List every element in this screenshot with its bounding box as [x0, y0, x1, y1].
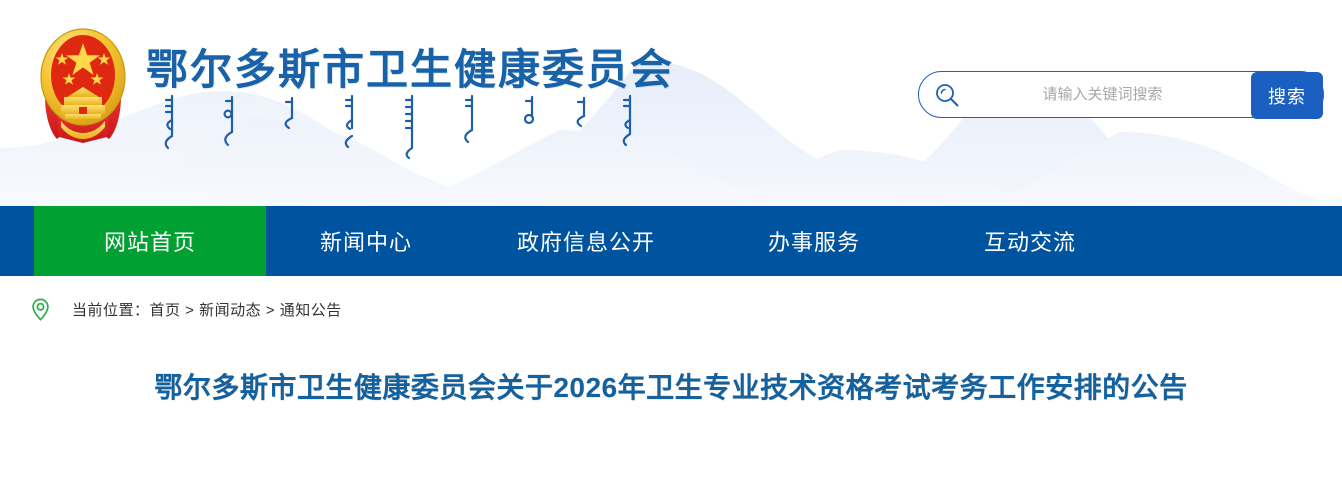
site-search: 搜索	[918, 71, 1324, 118]
nav-item-government-info-disclosure[interactable]: 政府信息公开	[466, 206, 706, 276]
nav-left-spacer	[0, 206, 34, 276]
search-button[interactable]: 搜索	[1251, 72, 1323, 119]
national-emblem-logo	[31, 21, 135, 145]
main-navigation: 网站首页 新闻中心 政府信息公开 办事服务 互动交流	[0, 206, 1342, 276]
page-root: 鄂尔多斯市卫生健康委员会	[0, 0, 1342, 482]
location-pin-icon	[31, 298, 50, 321]
nav-item-home[interactable]: 网站首页	[34, 206, 266, 276]
site-title-mongolian	[150, 92, 650, 162]
breadcrumb-text[interactable]: 当前位置：首页 > 新闻动态 > 通知公告	[72, 299, 342, 320]
nav-item-services[interactable]: 办事服务	[706, 206, 922, 276]
nav-item-interaction[interactable]: 互动交流	[922, 206, 1138, 276]
site-header: 鄂尔多斯市卫生健康委员会	[0, 0, 1342, 206]
search-field-wrapper[interactable]: 搜索	[918, 71, 1324, 118]
nav-item-news-center[interactable]: 新闻中心	[266, 206, 466, 276]
article-title: 鄂尔多斯市卫生健康委员会关于2026年卫生专业技术资格考试考务工作安排的公告	[31, 364, 1311, 412]
search-icon	[934, 82, 960, 108]
breadcrumb: 当前位置：首页 > 新闻动态 > 通知公告	[0, 276, 1342, 342]
china-national-emblem-icon	[31, 21, 135, 145]
site-title: 鄂尔多斯市卫生健康委员会	[146, 36, 674, 97]
